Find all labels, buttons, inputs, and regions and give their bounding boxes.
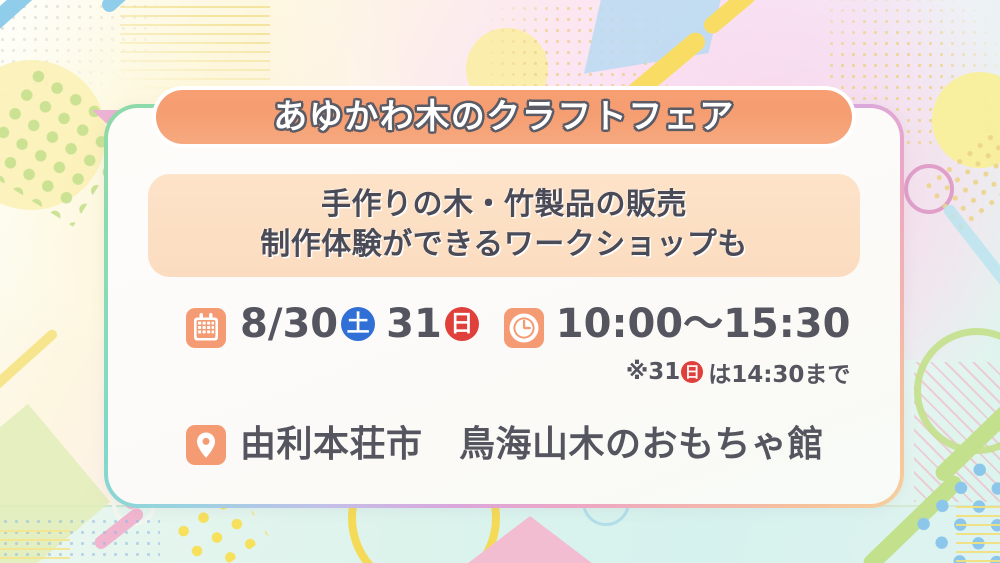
broadcast-info-slide: あゆかわ木のクラフトフェア 手作りの木・竹製品の販売 制作体験ができるワークショ… [0, 0, 1000, 563]
event-time-note: ※31 日 は14:30まで [556, 355, 851, 389]
page-title: あゆかわ木のクラフトフェア [273, 100, 735, 134]
time-note-prefix: ※31 [626, 359, 680, 385]
time-block: 10:00〜15:30 ※31 日 は14:30まで [556, 304, 851, 389]
title-banner: あゆかわ木のクラフトフェア [152, 86, 856, 148]
place-row: 由利本荘市 鳥海山木のおもちゃ館 [186, 425, 874, 465]
calendar-icon [186, 308, 226, 348]
weekday-badge-saturday: 土 [341, 307, 375, 341]
subtitle-box: 手作りの木・竹製品の販売 制作体験ができるワークショップも [148, 174, 860, 277]
map-pin-icon [186, 425, 226, 465]
clock-icon [504, 308, 544, 348]
background-bottom-mint-band [0, 505, 1000, 563]
subtitle-line-1: 手作りの木・竹製品の販売 [148, 185, 860, 225]
date-group: 8/30 土 31 日 [186, 304, 482, 348]
weekday-badge-sunday: 日 [445, 307, 479, 341]
time-note-suffix: は14:30まで [708, 355, 850, 389]
time-note-weekday-badge: 日 [681, 361, 703, 383]
event-date: 8/30 土 31 日 [240, 304, 482, 344]
event-place: 由利本荘市 鳥海山木のおもちゃ館 [240, 427, 824, 463]
event-details: 8/30 土 31 日 [186, 304, 874, 465]
date-first: 8/30 [240, 304, 338, 344]
date-second: 31 [386, 304, 442, 344]
event-time-range: 10:00〜15:30 [556, 304, 851, 344]
subtitle-line-2: 制作体験ができるワークショップも [148, 225, 860, 265]
event-card: あゆかわ木のクラフトフェア 手作りの木・竹製品の販売 制作体験ができるワークショ… [104, 104, 904, 508]
date-time-row: 8/30 土 31 日 [186, 304, 874, 389]
